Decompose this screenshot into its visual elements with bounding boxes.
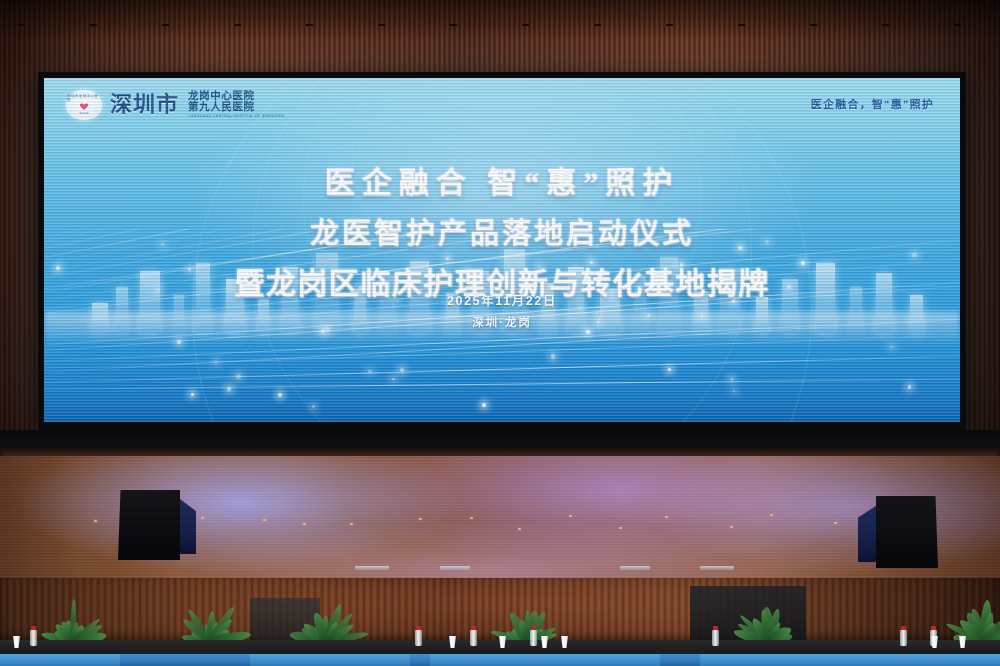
plant-foliage <box>500 596 556 642</box>
slide-location: 深圳·龙岗 <box>44 314 960 330</box>
hospital-crest-icon: 深圳市龙岗中心医院 SINCE <box>66 90 102 120</box>
tablecloth-panel <box>0 654 120 666</box>
plant-foliage <box>42 592 104 642</box>
water-bottle <box>30 626 37 646</box>
speaker-front-grille <box>118 490 180 560</box>
water-bottle <box>900 626 907 646</box>
water-bottle <box>712 626 719 646</box>
plant-foliage <box>300 600 352 642</box>
plant-foliage <box>955 594 1000 642</box>
table-cloth <box>0 654 1000 666</box>
bottle-body <box>470 630 477 646</box>
logo-city-text: 深圳市 <box>110 94 179 116</box>
led-screen: 深圳市龙岗中心医院 SINCE 深圳市 龙岗中心医院 第九人民医院 LONGGA… <box>44 78 960 422</box>
bottle-body <box>415 630 422 646</box>
slide-title-line-2: 龙医智护产品落地启动仪式 <box>44 210 960 252</box>
water-bottle <box>470 626 477 646</box>
conference-hall-scene: 深圳市龙岗中心医院 SINCE 深圳市 龙岗中心医院 第九人民医院 LONGGA… <box>0 0 1000 666</box>
logo-hospital-line2: 第九人民医院 <box>188 102 284 113</box>
crest-lotus-icon <box>80 103 89 110</box>
slide-tagline-top-right: 医企融合，智“惠”照护 <box>811 96 934 112</box>
bottle-body <box>530 630 537 646</box>
logo-hospital-line1: 龙岗中心医院 <box>188 91 284 102</box>
logo-name-stack: 龙岗中心医院 第九人民医院 LONGGANG CENTRAL HOSPITAL … <box>188 91 284 118</box>
tablecloth-panel <box>430 654 660 666</box>
logo-english-name: LONGGANG CENTRAL HOSPITAL OF SHENZHEN <box>188 115 284 119</box>
stage-monitor-speaker-right <box>856 496 938 568</box>
water-bottle <box>415 626 422 646</box>
slide-title-line-1: 医企融合 智“惠”照护 <box>44 158 960 202</box>
crest-sub-text: SINCE <box>79 111 88 115</box>
tablecloth-panel <box>700 654 1000 666</box>
crest-arc-text: 深圳市龙岗中心医院 <box>67 95 101 102</box>
bottle-body <box>900 630 907 646</box>
speaker-front-grille <box>876 496 938 568</box>
bottle-body <box>712 630 719 646</box>
slide-date: 2025年11月22日 <box>44 290 960 309</box>
slide-title-block: 医企融合 智“惠”照护 龙医智护产品落地启动仪式 暨龙岗区临床护理创新与转化基地… <box>44 158 960 303</box>
water-bottle <box>530 626 537 646</box>
tablecloth-panel <box>250 654 410 666</box>
plant-foliage <box>182 596 238 642</box>
hospital-logo: 深圳市龙岗中心医院 SINCE 深圳市 龙岗中心医院 第九人民医院 LONGGA… <box>66 90 285 120</box>
plant-foliage <box>742 598 796 642</box>
bottle-body <box>30 630 37 646</box>
stage-monitor-speaker-left <box>118 490 196 560</box>
slide-meta-block: 2025年11月22日 深圳·龙岗 <box>44 290 960 330</box>
